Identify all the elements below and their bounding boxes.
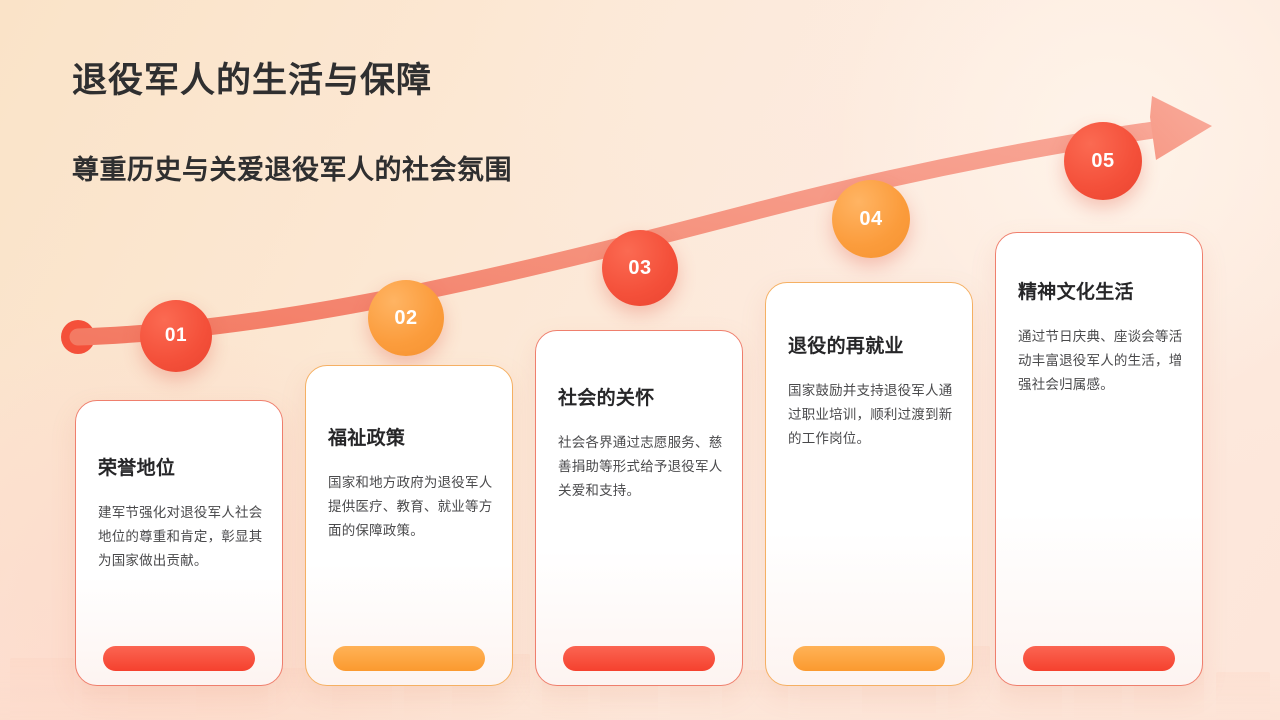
step-card-pill-04 [793, 646, 945, 671]
step-card-text-05: 通过节日庆典、座谈会等活动丰富退役军人的生活，增强社会归属感。 [1018, 325, 1184, 397]
step-card-title-03: 社会的关怀 [558, 383, 655, 410]
step-card-title-04: 退役的再就业 [788, 331, 904, 358]
step-card-text-02: 国家和地方政府为退役军人提供医疗、教育、就业等方面的保障政策。 [328, 471, 494, 543]
step-circle-04[interactable]: 04 [832, 180, 910, 258]
step-card-pill-03 [563, 646, 715, 671]
step-card-title-01: 荣誉地位 [98, 453, 175, 480]
step-card-text-01: 建军节强化对退役军人社会地位的尊重和肯定，彰显其为国家做出贡献。 [98, 501, 264, 573]
step-number-05: 05 [1091, 150, 1114, 173]
step-card-pill-01 [103, 646, 255, 671]
step-card-02[interactable]: 福祉政策 国家和地方政府为退役军人提供医疗、教育、就业等方面的保障政策。 [305, 365, 513, 686]
step-card-pill-05 [1023, 646, 1175, 671]
step-card-text-04: 国家鼓励并支持退役军人通过职业培训，顺利过渡到新的工作岗位。 [788, 379, 954, 451]
step-number-03: 03 [628, 257, 651, 280]
step-circle-05[interactable]: 05 [1064, 122, 1142, 200]
step-card-05[interactable]: 精神文化生活 通过节日庆典、座谈会等活动丰富退役军人的生活，增强社会归属感。 [995, 232, 1203, 686]
step-card-01[interactable]: 荣誉地位 建军节强化对退役军人社会地位的尊重和肯定，彰显其为国家做出贡献。 [75, 400, 283, 686]
step-circle-02[interactable]: 02 [368, 280, 444, 356]
step-card-03[interactable]: 社会的关怀 社会各界通过志愿服务、慈善捐助等形式给予退役军人关爱和支持。 [535, 330, 743, 686]
arrow-head [1150, 96, 1212, 160]
step-card-text-03: 社会各界通过志愿服务、慈善捐助等形式给予退役军人关爱和支持。 [558, 431, 724, 503]
step-card-title-05: 精神文化生活 [1018, 277, 1134, 304]
step-circle-01[interactable]: 01 [140, 300, 212, 372]
step-card-title-02: 福祉政策 [328, 423, 405, 450]
step-circle-03[interactable]: 03 [602, 230, 678, 306]
step-number-02: 02 [394, 307, 417, 330]
step-number-01: 01 [165, 325, 187, 347]
slide-canvas: 退役军人的生活与保障 尊重历史与关爱退役军人的社会氛围 01 02 03 [0, 0, 1280, 720]
step-card-pill-02 [333, 646, 485, 671]
step-card-04[interactable]: 退役的再就业 国家鼓励并支持退役军人通过职业培训，顺利过渡到新的工作岗位。 [765, 282, 973, 686]
step-number-04: 04 [859, 208, 882, 231]
